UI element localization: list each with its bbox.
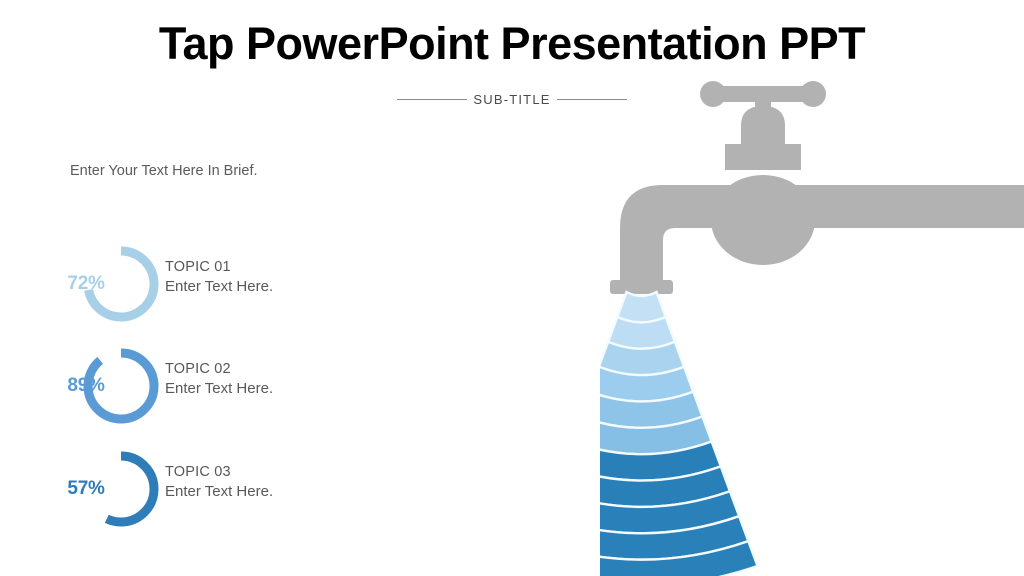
topic-row[interactable]: 72% TOPIC 01 Enter Text Here. [70, 243, 390, 343]
subtitle-text: SUB-TITLE [467, 92, 556, 107]
topic-text-block: TOPIC 03 Enter Text Here. [165, 464, 273, 500]
subtitle-rule-left [397, 99, 467, 100]
topic-subtitle: Enter Text Here. [165, 278, 273, 295]
topic-title: TOPIC 03 [165, 464, 273, 480]
percent-label: 72% [48, 273, 124, 295]
topic-row[interactable]: 89% TOPIC 02 Enter Text Here. [70, 345, 390, 445]
faucet-graphic [600, 80, 1024, 576]
topic-text-block: TOPIC 01 Enter Text Here. [165, 259, 273, 295]
slide-canvas: Tap PowerPoint Presentation PPT SUB-TITL… [0, 0, 1024, 576]
water-band [608, 317, 675, 349]
water-stream [600, 292, 758, 576]
topic-subtitle: Enter Text Here. [165, 483, 273, 500]
faucet-body [610, 81, 1024, 294]
percent-label: 57% [48, 478, 124, 500]
topic-title: TOPIC 02 [165, 361, 273, 377]
brief-text: Enter Your Text Here In Brief. [70, 163, 258, 179]
page-title: Tap PowerPoint Presentation PPT [0, 18, 1024, 70]
topic-text-block: TOPIC 02 Enter Text Here. [165, 361, 273, 397]
topic-subtitle: Enter Text Here. [165, 380, 273, 397]
subtitle-block: SUB-TITLE [397, 88, 627, 110]
topic-row[interactable]: 57% TOPIC 03 Enter Text Here. [70, 448, 390, 548]
percent-label: 89% [48, 375, 124, 397]
topic-title: TOPIC 01 [165, 259, 273, 275]
water-band [617, 292, 665, 322]
faucet-and-water-svg [600, 80, 1024, 576]
